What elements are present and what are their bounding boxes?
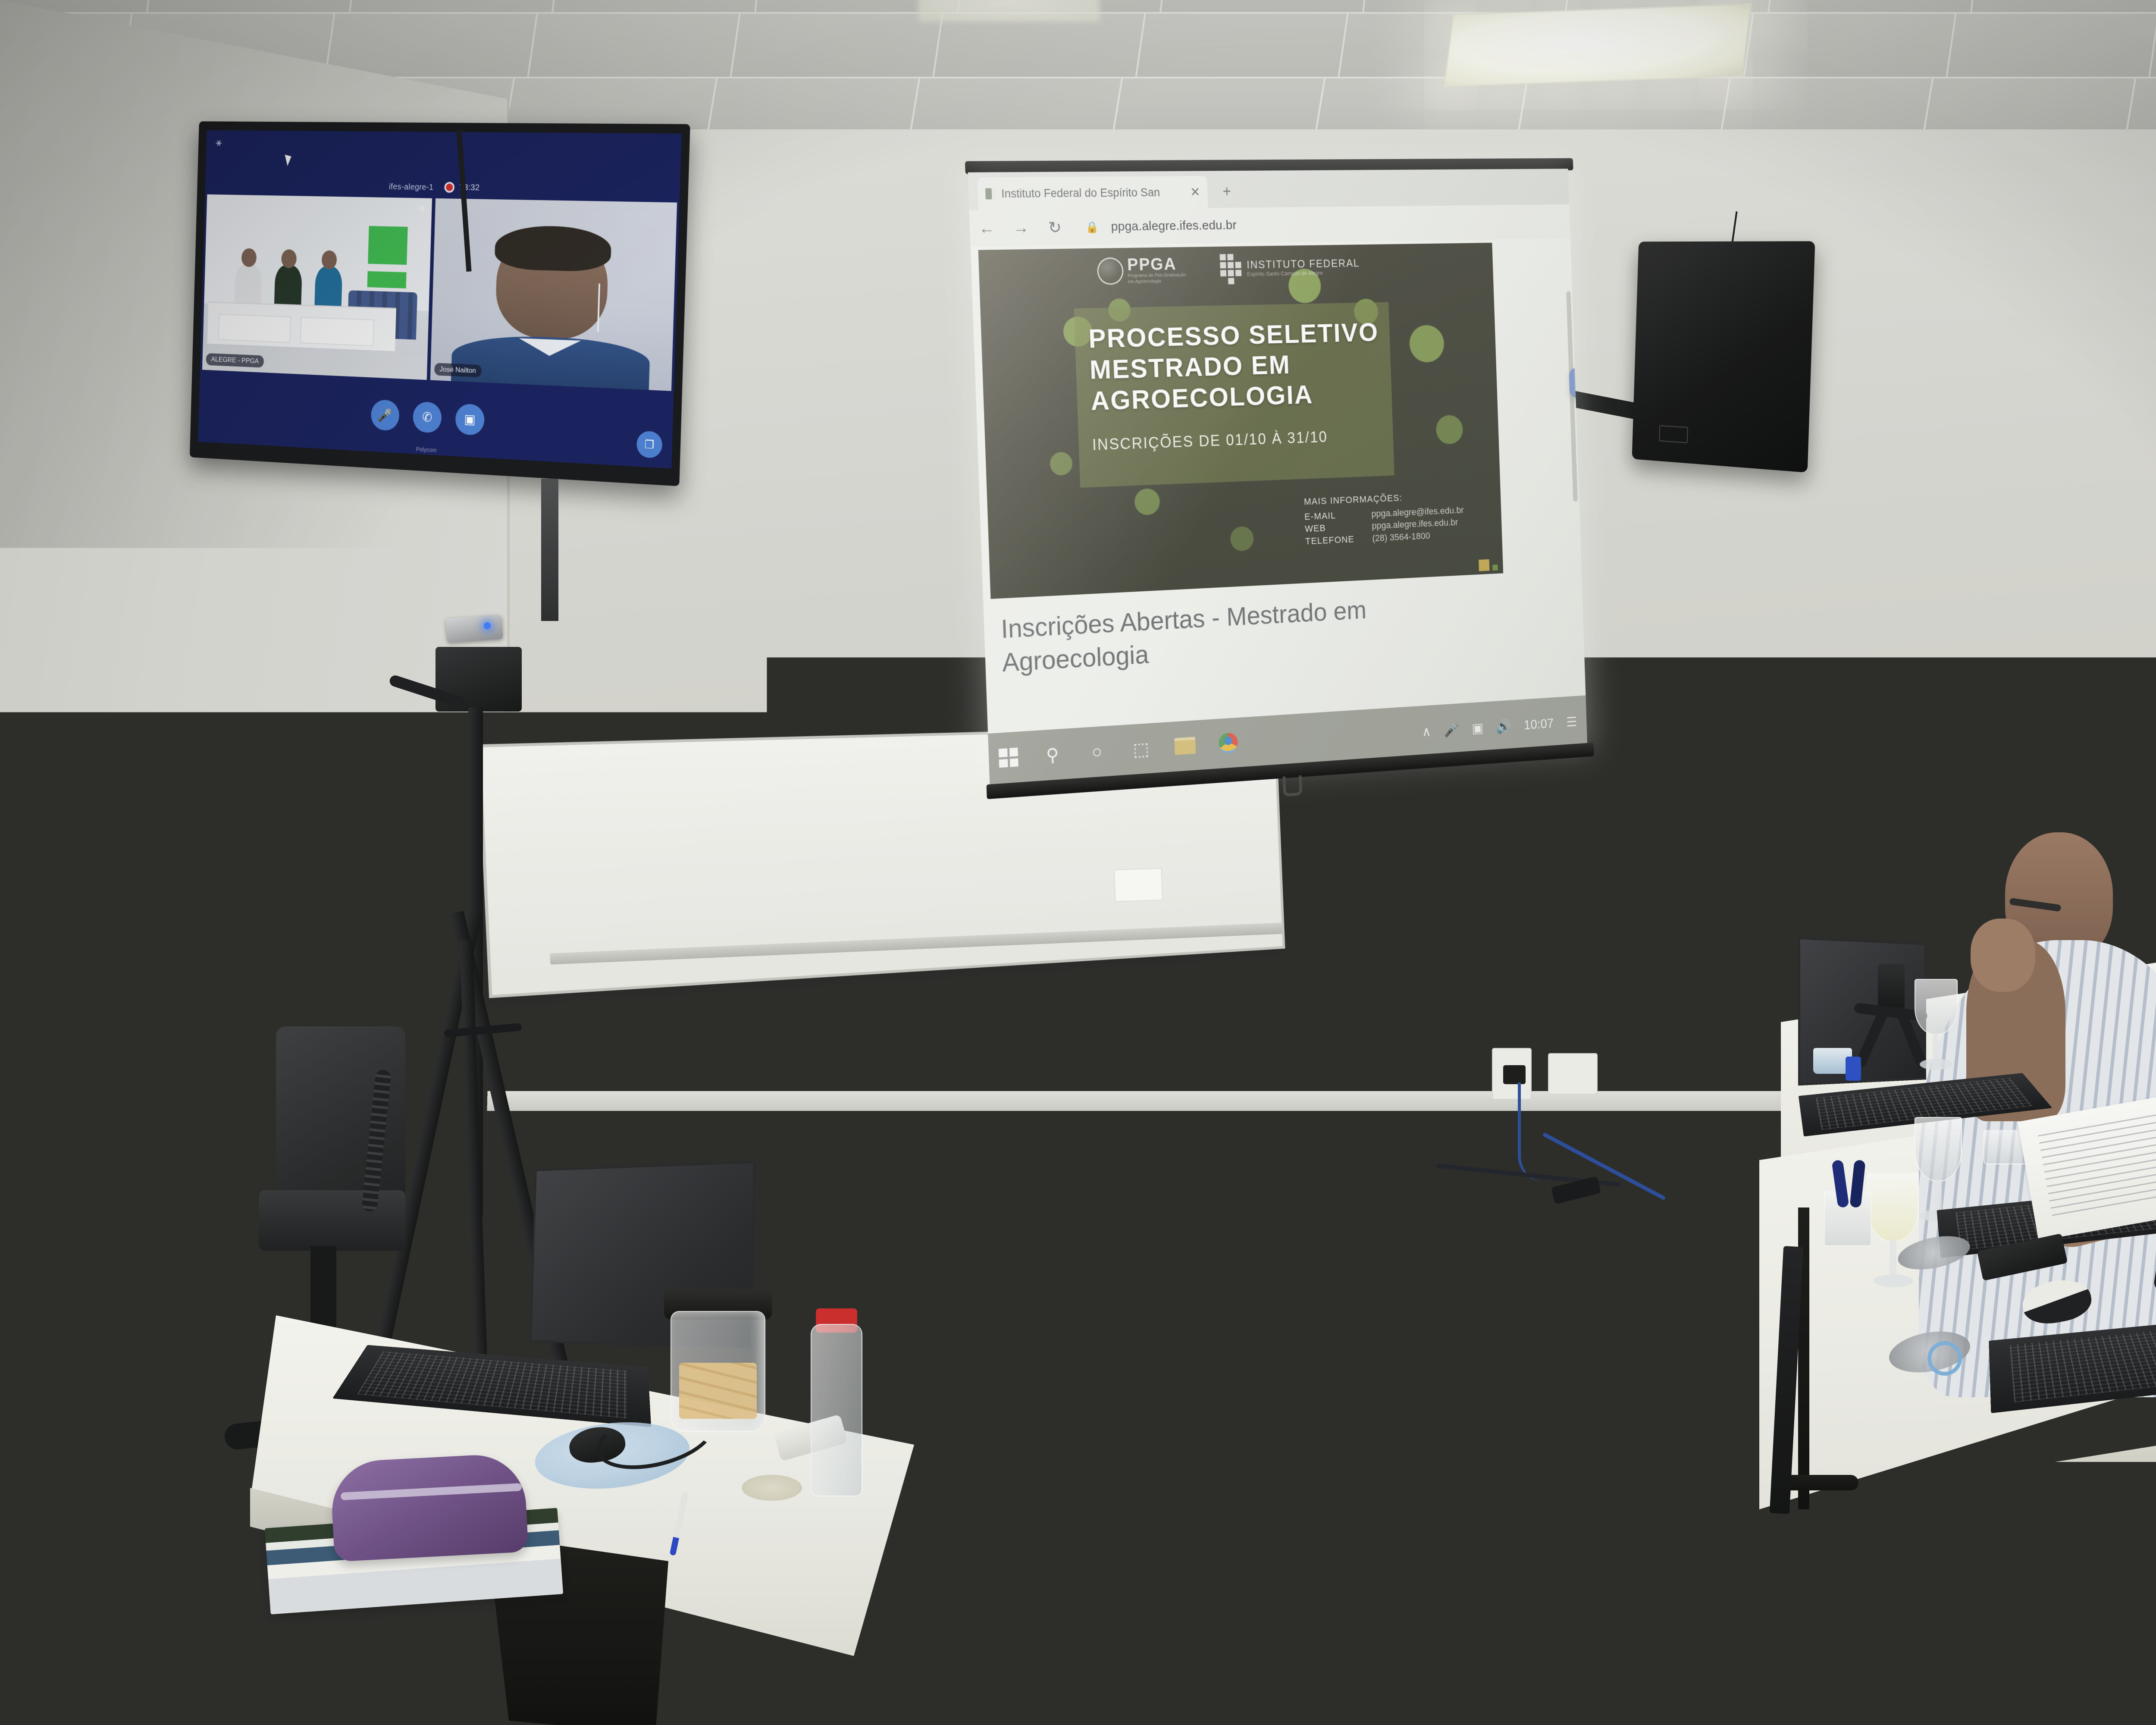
projected-desktop: Instituto Federal do Espírito San ✕ + — … [968,169,1587,784]
ceiling-light-far [918,0,1100,22]
plug-black [1503,1065,1526,1084]
video-tile-label: ALEGRE - PPGA [206,353,264,368]
ceiling-tile [1946,13,2156,78]
coaster [742,1475,802,1501]
video-tiles: ✥ ALEGRE - PPGA José Nailton [200,194,680,391]
ppga-logo-subtitle: Programa de Pós-Graduação em Agroecologi… [1128,273,1193,285]
ceiling-tile [933,13,1145,78]
floor-tile [818,1133,918,1170]
banner-title: PROCESSO SELETIVO MESTRADO EM AGROECOLOG… [1088,317,1393,417]
forward-icon[interactable]: → [1010,219,1032,237]
new-tab-icon[interactable]: + [1222,182,1232,200]
tripod-head-left [39,1069,151,1121]
floor-tile [849,1674,1037,1725]
tab-title: Instituto Federal do Espírito San [1001,185,1185,200]
floor-tile [140,1325,285,1396]
videoconference-screen: ifes-alegre-1 73:32 ⚹ [198,130,682,469]
ppga-logo: PPGA Programa de Pós-Graduação em Agroec… [1097,256,1192,286]
ifes-logo-subtitle: Espírito Santo Campus de Alegre [1247,269,1360,278]
ceiling-tile [1768,0,1979,13]
start-icon[interactable] [999,748,1018,768]
chair-seat [259,1190,405,1251]
remote-room-video [202,194,432,380]
video-tile-label: José Nailton [434,363,482,377]
floor-tile [843,1179,959,1228]
ceiling-tile [1744,13,1956,78]
close-tab-icon[interactable]: ✕ [1190,185,1201,199]
toggle-camera-button[interactable]: ▣ [455,403,485,436]
mic-far-capsule [1878,964,1905,1011]
floor-tile [1604,1674,1793,1725]
floor-tile [1462,1243,1592,1303]
web-page-content: PPGA Programa de Pós-Graduação em Agroec… [971,238,1586,734]
ceiling-tile [325,13,537,78]
phone-value: (28) 3564-1800 [1372,530,1430,544]
floor-tile [1322,1133,1423,1170]
ceiling-tile [730,13,943,78]
floor-tile [1154,1325,1299,1396]
floor-tile [888,1424,1048,1505]
participant-icon[interactable]: ⚹ [216,136,222,149]
floor-tile [1120,1133,1221,1170]
purple-pencil-case[interactable] [329,1452,528,1562]
screen-pull-hook [1283,775,1302,797]
ifes-logo: INSTITUTO FEDERAL Espírito Santo Campus … [1220,252,1360,285]
cortana-icon[interactable]: ○ [1086,741,1107,762]
ceiling-tile [350,0,560,13]
search-icon[interactable]: ⚲ [1042,743,1063,766]
floor-tile [1075,1179,1190,1228]
floor-tile [1009,1325,1154,1396]
ceiling-tile [147,0,357,13]
water-bottle [811,1324,862,1496]
webcam-led-icon [484,622,491,629]
ceiling-tile [552,0,763,13]
address-bar[interactable]: ppga.alegre.ifes.edu.br [1111,218,1237,234]
floor-tile [1367,1424,1526,1505]
floor-tile [1057,1540,1232,1633]
globe-icon [1097,257,1124,285]
floor-tile [1580,1540,1754,1633]
ppga-logo-text: PPGA [1127,256,1192,274]
floor-tile [1306,1179,1421,1228]
record-dot-icon [444,182,454,193]
webcam [445,615,503,643]
floor-tile [1019,1133,1120,1170]
call-header: ifes-alegre-1 73:32 [205,130,681,203]
floor-tile [1207,1424,1367,1505]
floor-tile [1421,1179,1537,1228]
floor-tile [1299,1325,1444,1396]
blue-network-cable [1518,1082,1591,1182]
expand-tile-icon[interactable]: ✥ [417,203,427,214]
floor-monitor-stand [1824,1535,1932,1716]
tray-volume-icon[interactable]: 🔊 [1496,718,1511,734]
floor-tile [1221,1133,1322,1170]
page-headline: Inscrições Abertas - Mestrado em Agroeco… [1000,590,1442,679]
file-explorer-icon[interactable] [1174,737,1196,755]
call-room-name: ifes-alegre-1 [389,182,434,193]
desktop-mouse[interactable] [129,1182,177,1211]
floor-tile [1406,1540,1580,1633]
promo-banner-image: PPGA Programa de Pós-Graduação em Agroec… [978,243,1504,599]
taskbar-clock[interactable]: 10:07 [1523,715,1554,732]
ceiling-tile [1136,13,1348,78]
banner-logos: PPGA Programa de Pós-Graduação em Agroec… [1097,252,1360,287]
floor-tile [1589,1325,1733,1396]
floor-tile [1592,1243,1722,1303]
tray-network-icon[interactable]: ▣ [1472,720,1484,736]
ifes-grid-icon [1220,254,1242,285]
chrome-icon[interactable] [1219,732,1238,754]
remote-green-panel-2 [367,271,407,288]
floor-tile [1226,1674,1415,1725]
small-blue-bottle [1846,1057,1861,1081]
floor-tile [1332,1243,1462,1303]
remote-table [207,301,396,351]
reload-icon[interactable]: ↻ [1044,218,1066,237]
floor-tile [941,1243,1071,1303]
task-view-icon[interactable]: ⬚ [1131,738,1152,760]
floor-tile [1048,1424,1207,1505]
phone-label: TELEFONE [1305,533,1364,548]
video-tile-room[interactable]: ✥ ALEGRE - PPGA [202,194,432,380]
wall-tv: ifes-alegre-1 73:32 ⚹ [190,121,690,486]
banner-contact-block: MAIS INFORMAÇÕES: E-MAILppga.alegre@ifes… [1304,489,1465,548]
tray-mic-icon[interactable]: 🎤 [1444,721,1459,738]
right-table-foot [1781,1475,1858,1490]
floor-tile [864,1325,1009,1396]
floor-tile [1232,1540,1406,1633]
floor-tile [93,1674,282,1725]
floor-tile [515,1133,616,1170]
ceiling-light-panel [1444,3,1752,87]
person1-hand [1971,919,2035,992]
ceiling-tile [528,13,740,78]
cookies [679,1363,757,1419]
floor-tile [918,1133,1019,1170]
tv-wall-mount [541,479,558,621]
floor-tile [811,1243,941,1303]
room-photo-scene: Instituto Federal do Espírito San ✕ + — … [0,0,2156,1725]
floor-tile [1526,1424,1686,1505]
floor-tile [1037,1674,1226,1725]
floor-tile [883,1540,1057,1633]
action-center-icon[interactable]: ☰ [1566,714,1577,730]
floor-tile [660,1674,849,1725]
lock-icon: 🔒 [1085,220,1099,234]
ifes-favicon [985,188,996,199]
floor-tile [282,1674,471,1725]
remote-green-panel [368,226,408,265]
mute-mic-button[interactable]: 🎤 [371,399,400,431]
tv-brand-label: Polycom [416,446,436,454]
participant-hair [495,225,612,273]
floor-tile [959,1179,1075,1228]
back-icon[interactable]: ← [975,219,998,238]
floor-tile [1190,1179,1306,1228]
end-call-button[interactable]: ✆ [413,401,442,433]
floor-tile [1444,1325,1589,1396]
browser-tab-bar: Instituto Federal do Espírito San ✕ + [968,169,1570,210]
projection-screen: Instituto Federal do Espírito San ✕ + — … [968,169,1587,784]
tray-chevron-icon[interactable]: ∧ [1422,723,1431,740]
ceiling-tile [1160,0,1371,13]
banner-corner-marks [1479,559,1498,571]
floor-tile [1415,1674,1604,1725]
floor-tile [0,1674,93,1725]
whiteboard-notice [1114,868,1163,902]
wall-speaker [1632,241,1815,473]
floor-tile [0,1424,91,1505]
floor-tile [1201,1243,1332,1303]
ceiling-tile [1971,0,2156,13]
browser-tab[interactable]: Instituto Federal do Espírito San ✕ [977,176,1208,210]
floor-tile [1071,1243,1201,1303]
floor-tile [12,1540,186,1633]
